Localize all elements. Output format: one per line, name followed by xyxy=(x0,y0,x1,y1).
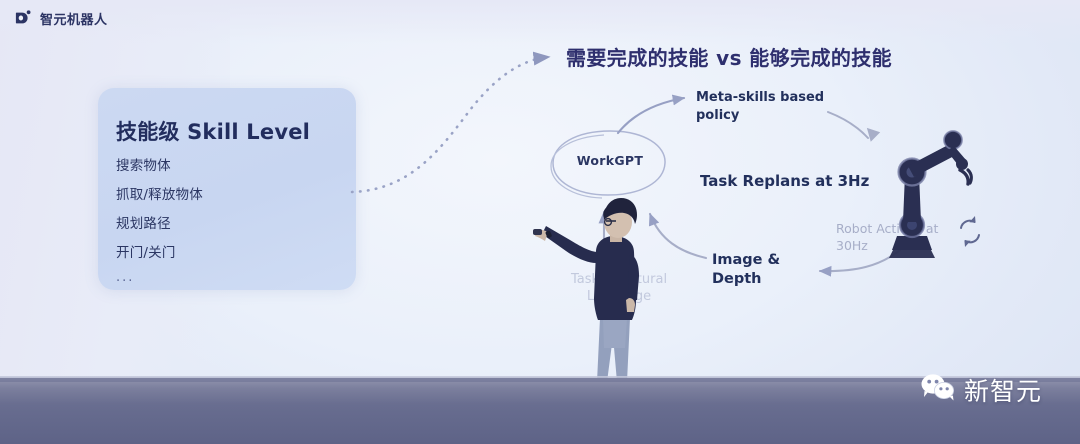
agibot-d-logo-icon xyxy=(14,9,33,28)
stage-floor-sheen xyxy=(0,382,1080,404)
meta-skills-label: Meta-skills based policy xyxy=(696,89,826,124)
watermark-text: 新智元 xyxy=(964,372,1042,408)
brand-header: 智元机器人 xyxy=(14,9,108,28)
list-item: 搜索物体 xyxy=(116,154,203,174)
list-item: 开门/关门 xyxy=(116,241,203,261)
task-natural-language-label: Task in Natural Language xyxy=(560,272,678,306)
page-title: 需要完成的技能 vs 能够完成的技能 xyxy=(566,42,892,71)
wechat-icon xyxy=(921,373,955,407)
skill-card-title: 技能级 Skill Level xyxy=(116,116,310,146)
list-item: 规划路径 xyxy=(116,212,203,232)
task-replans-label: Task Replans at 3Hz xyxy=(700,172,869,190)
watermark: 新智元 xyxy=(921,372,1042,408)
brand-name: 智元机器人 xyxy=(40,9,108,28)
skill-level-card: 技能级 Skill Level 搜索物体 抓取/释放物体 规划路径 开门/关门 … xyxy=(98,88,356,290)
screenshot-root: 智元机器人 技能级 Skill Level 搜索物体 抓取/释放物体 规划路径 … xyxy=(0,0,1080,444)
list-item: 抓取/释放物体 xyxy=(116,183,203,203)
image-depth-label: Image & Depth xyxy=(712,251,798,289)
wall-top-sheen xyxy=(0,0,1080,44)
skill-card-list: 搜索物体 抓取/释放物体 规划路径 开门/关门 ... xyxy=(116,154,203,294)
robot-actions-label: Robot Actions at 30Hz xyxy=(836,221,954,255)
workgpt-node-label: WorkGPT xyxy=(571,153,649,168)
list-item-more: ... xyxy=(116,270,203,285)
